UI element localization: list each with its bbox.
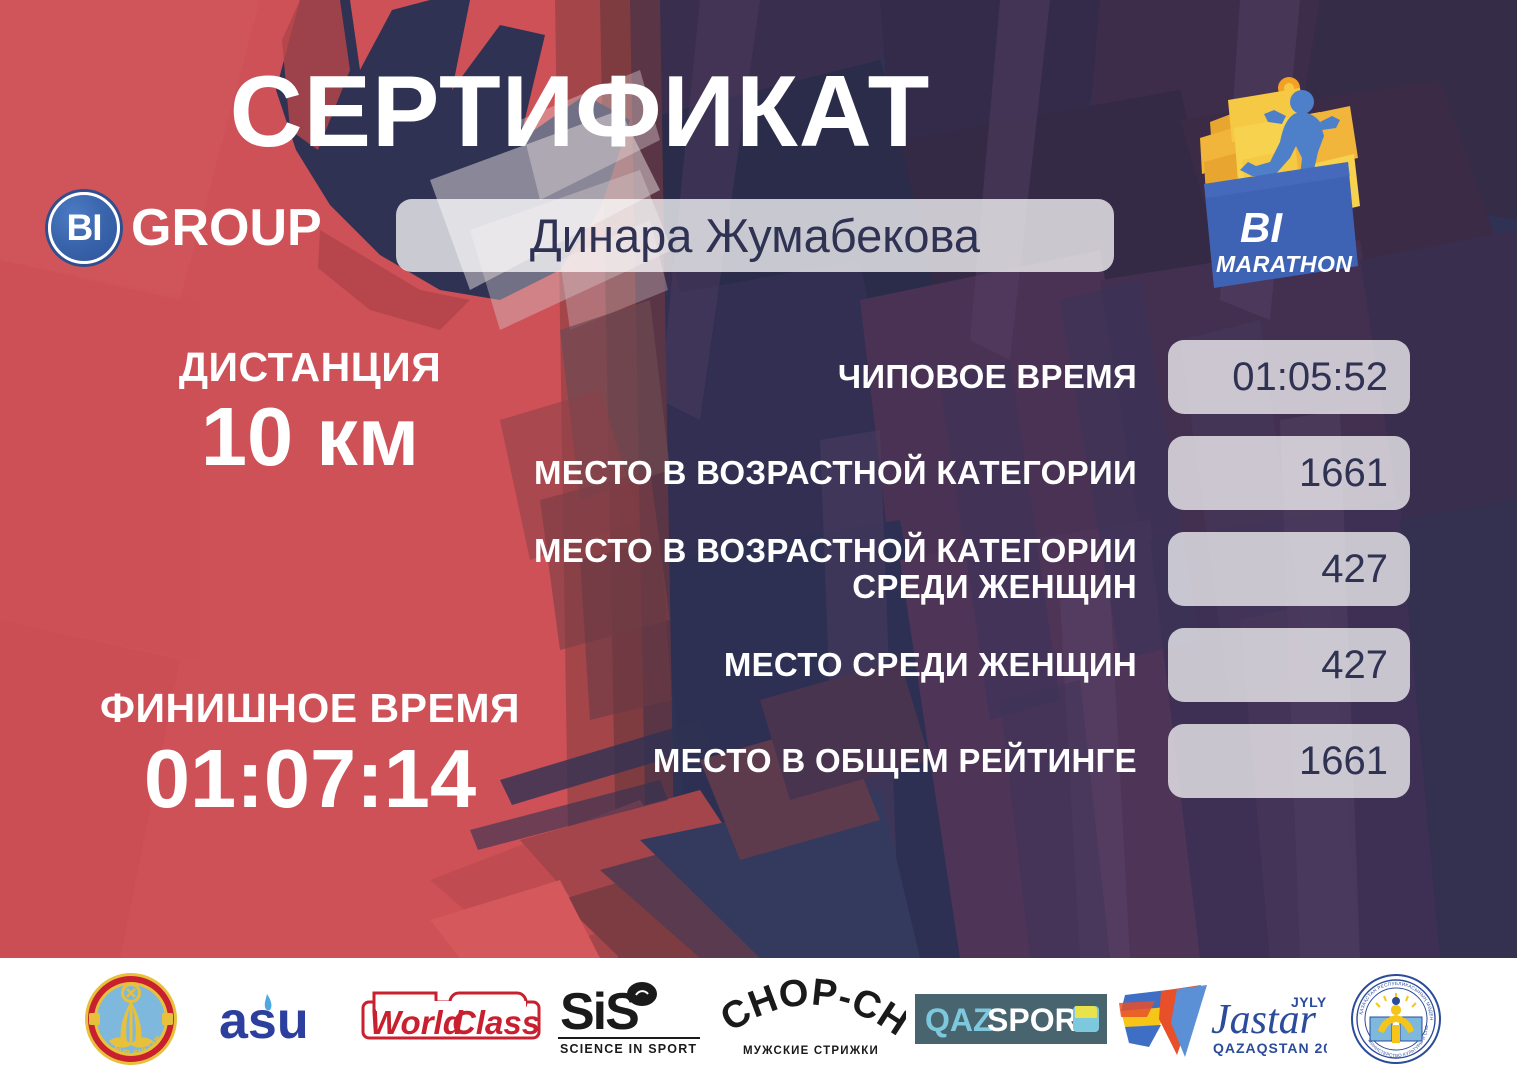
left-stats-column: ДИСТАНЦИЯ 10 км ФИНИШНОЕ ВРЕМЯ 01:07:14 — [60, 345, 560, 822]
result-label: МЕСТО В ВОЗРАСТНОЙ КАТЕГОРИИ СРЕДИ ЖЕНЩИ… — [500, 533, 1168, 604]
bi-group-wordmark: GROUP — [131, 202, 322, 254]
distance-label: ДИСТАНЦИЯ — [60, 345, 560, 389]
bi-marathon-word-text: MARATHON — [1216, 251, 1352, 277]
result-label: МЕСТО В ОБЩЕМ РЕЙТИНГЕ — [500, 743, 1168, 779]
result-value: 01:05:52 — [1168, 340, 1410, 414]
certificate-canvas: СЕРТИФИКАТ BI GROUP Динара Жумабекова — [0, 0, 1517, 1080]
result-row: МЕСТО В ВОЗРАСТНОЙ КАТЕГОРИИ 1661 — [500, 436, 1410, 510]
page-title: СЕРТИФИКАТ — [0, 62, 1160, 163]
sponsor-nur-sultan-emblem: NUR-SULTAN — [56, 969, 206, 1069]
sponsor-chop-chop-logo: CHOP-CHOP МУЖСКИЕ СТРИЖКИ — [711, 969, 911, 1069]
svg-text:CHOP-CHOP: CHOP-CHOP — [716, 978, 906, 1045]
svg-text:SiS: SiS — [560, 983, 638, 1041]
bi-group-logo: BI GROUP — [48, 192, 322, 264]
sponsor-qazsport-logo: QAZ SPORT — [911, 969, 1111, 1069]
result-value: 427 — [1168, 532, 1410, 606]
bi-marathon-logo: BI MARATHON — [1182, 66, 1387, 298]
athlete-name: Динара Жумабекова — [530, 212, 980, 259]
svg-text:МУЖСКИЕ СТРИЖКИ: МУЖСКИЕ СТРИЖКИ — [743, 1045, 879, 1057]
result-row: МЕСТО В ОБЩЕМ РЕЙТИНГЕ 1661 — [500, 724, 1410, 798]
sponsor-asu-logo: asu — [206, 969, 356, 1069]
bi-group-badge-label: BI — [67, 209, 102, 246]
svg-text:SCIENCE IN SPORT: SCIENCE IN SPORT — [560, 1042, 697, 1056]
svg-text:JYLY: JYLY — [1291, 994, 1327, 1010]
svg-text:QAZAQSTAN 2019: QAZAQSTAN 2019 — [1213, 1040, 1327, 1056]
sponsor-bar: NUR-SULTAN asu World Class — [0, 958, 1517, 1080]
svg-text:asu: asu — [219, 992, 309, 1050]
result-row: МЕСТО СРЕДИ ЖЕНЩИН 427 — [500, 628, 1410, 702]
result-label: МЕСТО В ВОЗРАСТНОЙ КАТЕГОРИИ — [500, 455, 1168, 491]
sponsor-jastar-jyly-logo: Jastar JYLY QAZAQSTAN 2019 — [1111, 969, 1331, 1069]
distance-block: ДИСТАНЦИЯ 10 км — [60, 345, 560, 481]
svg-text:Class: Class — [452, 1004, 540, 1041]
bi-group-badge-icon: BI — [48, 192, 120, 264]
result-label: ЧИПОВОЕ ВРЕМЯ — [500, 359, 1168, 395]
finish-time-label: ФИНИШНОЕ ВРЕМЯ — [60, 686, 560, 730]
sponsor-ministry-emblem: ҚАЗАҚСТАН РЕСПУБЛИКАСЫНЫҢ МӘДЕНИЕТ ЖӘНЕ … — [1331, 969, 1461, 1069]
finish-time-value: 01:07:14 — [60, 735, 560, 823]
sponsor-world-class-logo: World Class — [356, 969, 546, 1069]
svg-text:QAZ: QAZ — [925, 1002, 993, 1038]
result-value: 1661 — [1168, 724, 1410, 798]
results-list: ЧИПОВОЕ ВРЕМЯ 01:05:52 МЕСТО В ВОЗРАСТНО… — [500, 340, 1410, 820]
svg-text:World: World — [370, 1004, 464, 1041]
sponsor-sis-logo: SiS SCIENCE IN SPORT — [546, 969, 711, 1069]
athlete-name-badge: Динара Жумабекова — [396, 199, 1114, 272]
result-value: 427 — [1168, 628, 1410, 702]
bi-marathon-bi-text: BI — [1240, 204, 1283, 251]
result-value: 1661 — [1168, 436, 1410, 510]
result-row: ЧИПОВОЕ ВРЕМЯ 01:05:52 — [500, 340, 1410, 414]
distance-value: 10 км — [60, 393, 560, 481]
result-row: МЕСТО В ВОЗРАСТНОЙ КАТЕГОРИИ СРЕДИ ЖЕНЩИ… — [500, 532, 1410, 606]
finish-time-block: ФИНИШНОЕ ВРЕМЯ 01:07:14 — [60, 686, 560, 822]
result-label: МЕСТО СРЕДИ ЖЕНЩИН — [500, 647, 1168, 683]
